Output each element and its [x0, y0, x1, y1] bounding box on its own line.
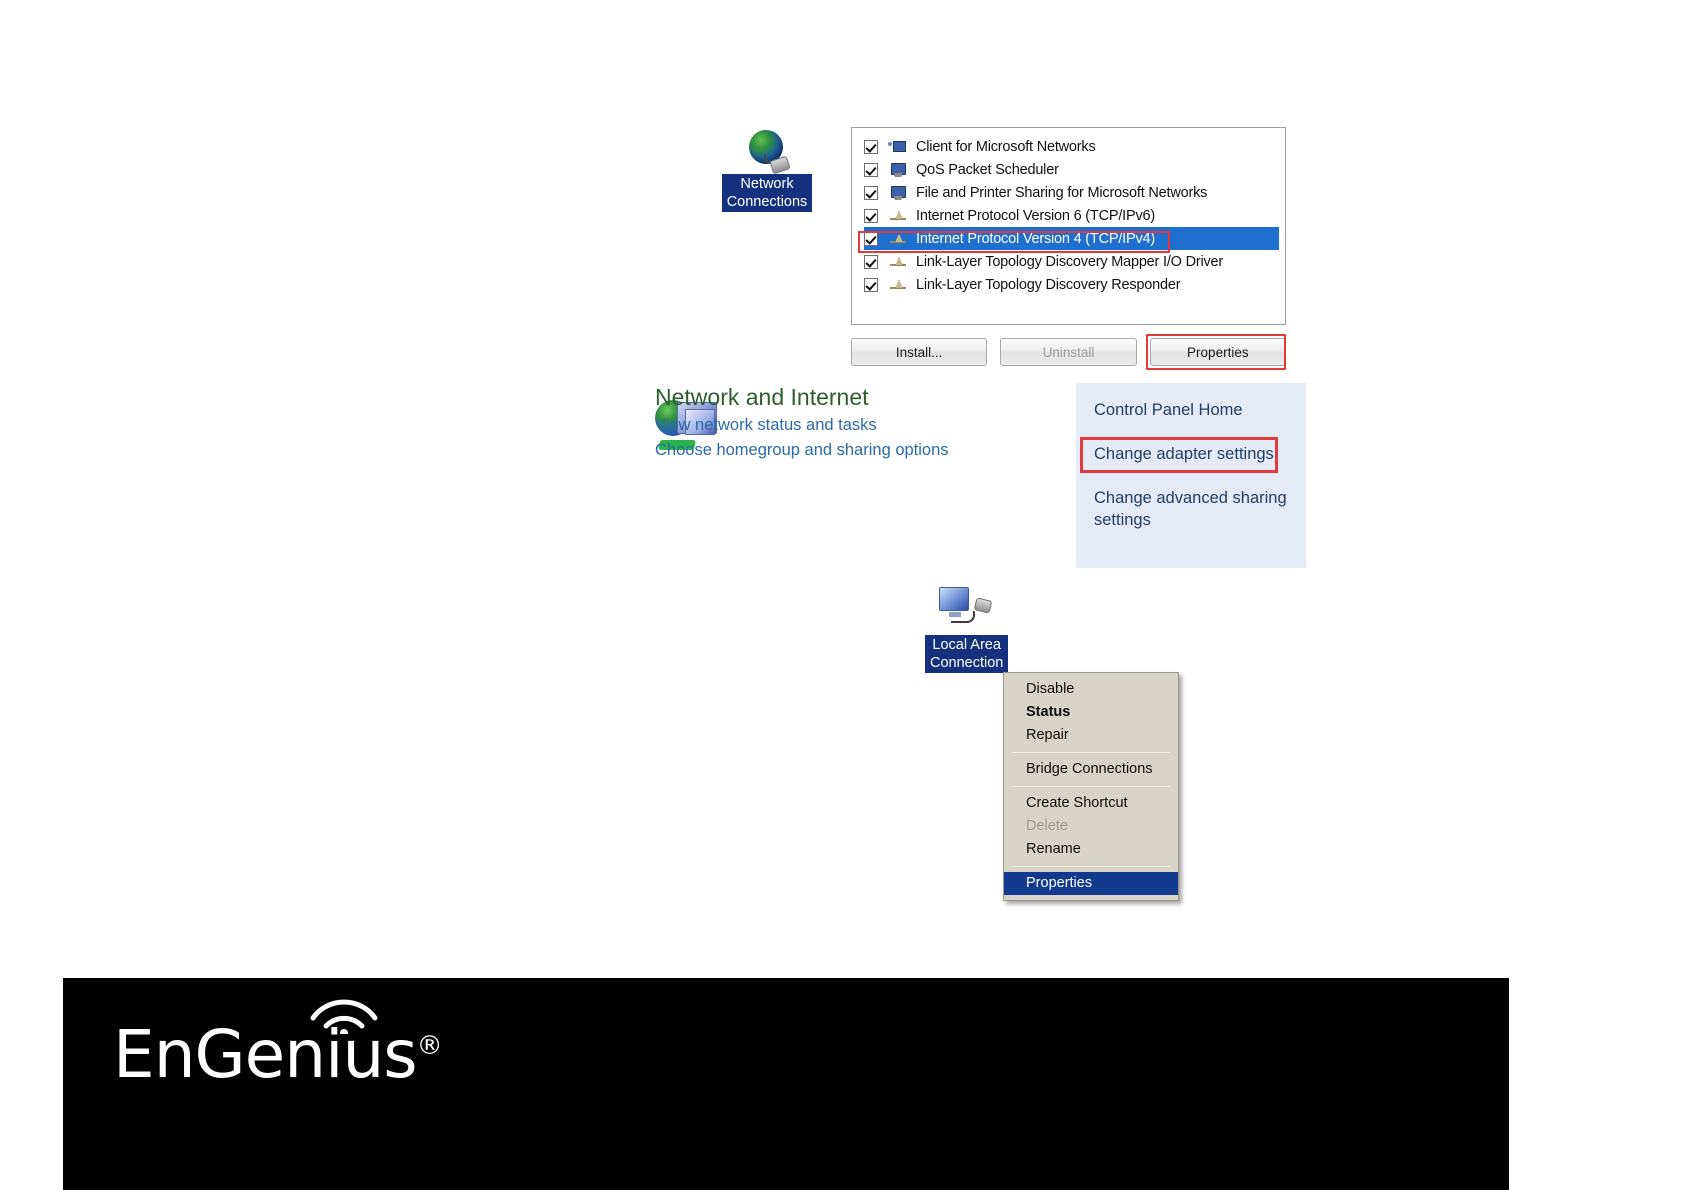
sidebar-item-control-panel-home[interactable]: Control Panel Home [1094, 399, 1288, 421]
menu-item-bridge-connections[interactable]: Bridge Connections [1004, 758, 1178, 781]
menu-item-status[interactable]: Status [1004, 701, 1178, 724]
menu-item-repair[interactable]: Repair [1004, 724, 1178, 747]
checkbox-icon[interactable] [864, 255, 878, 269]
menu-item-create-shortcut[interactable]: Create Shortcut [1004, 792, 1178, 815]
page-title[interactable]: Network and Internet [655, 384, 1065, 411]
install-button[interactable]: Install... [851, 338, 987, 366]
list-item[interactable]: Internet Protocol Version 6 (TCP/IPv6) [864, 204, 1279, 227]
globe-network-icon [745, 130, 789, 174]
network-connections-desktop-icon[interactable]: Network Connections [714, 130, 820, 212]
checkbox-icon[interactable] [864, 163, 878, 177]
icon-label-line1: Network [727, 175, 808, 193]
checkbox-icon[interactable] [864, 186, 878, 200]
checkbox-icon[interactable] [864, 209, 878, 223]
network-and-internet-block: Network and Internet View network status… [655, 384, 1065, 463]
menu-item-rename[interactable]: Rename [1004, 838, 1178, 861]
uninstall-button: Uninstall [1000, 338, 1136, 366]
sidebar-item-change-adapter-settings[interactable]: Change adapter settings [1094, 443, 1288, 465]
list-item[interactable]: File and Printer Sharing for Microsoft N… [864, 181, 1279, 204]
checkbox-icon[interactable] [864, 232, 878, 246]
icon-label-line2: Connection [930, 654, 1003, 672]
protocol-icon [888, 277, 908, 293]
sidebar-item-change-advanced-sharing-settings[interactable]: Change advanced sharing settings [1094, 487, 1288, 531]
logo-brand-text: EnGenius [113, 1016, 417, 1093]
menu-separator [1012, 786, 1170, 787]
local-area-connection-icon-label: Local Area Connection [925, 635, 1008, 673]
list-item[interactable]: QoS Packet Scheduler [864, 158, 1279, 181]
menu-bottom-padding [1004, 895, 1178, 900]
protocol-buttons-row: Install... Uninstall Properties [851, 338, 1286, 366]
monitor-icon [888, 185, 908, 201]
protocol-list[interactable]: Client for Microsoft Networks QoS Packet… [851, 127, 1286, 325]
list-item-selected[interactable]: Internet Protocol Version 4 (TCP/IPv4) [864, 227, 1279, 250]
list-item[interactable]: Link-Layer Topology Discovery Responder [864, 273, 1279, 296]
menu-item-disable[interactable]: Disable [1004, 678, 1178, 701]
context-menu: Disable Status Repair Bridge Connections… [1003, 672, 1179, 901]
monitor-icon [888, 162, 908, 178]
list-item-label: Link-Layer Topology Discovery Mapper I/O… [916, 254, 1223, 270]
list-item[interactable]: Link-Layer Topology Discovery Mapper I/O… [864, 250, 1279, 273]
protocol-icon [888, 254, 908, 270]
checkbox-icon[interactable] [864, 140, 878, 154]
link-view-network-status[interactable]: View network status and tasks [655, 413, 1065, 438]
lan-wire-shape [951, 611, 975, 623]
protocol-panel: Client for Microsoft Networks QoS Packet… [851, 127, 1286, 325]
properties-button[interactable]: Properties [1150, 338, 1286, 366]
menu-separator [1012, 866, 1170, 867]
menu-separator [1012, 752, 1170, 753]
menu-item-delete: Delete [1004, 815, 1178, 838]
client-icon [888, 139, 908, 155]
checkbox-icon[interactable] [864, 278, 878, 292]
local-area-connection-icon [933, 585, 993, 635]
list-item-label: File and Printer Sharing for Microsoft N… [916, 185, 1207, 201]
network-connections-icon-label: Network Connections [722, 174, 813, 212]
list-item-label: Client for Microsoft Networks [916, 139, 1096, 155]
protocol-icon [888, 231, 908, 247]
protocol-icon [888, 208, 908, 224]
lan-monitor-shape [939, 587, 969, 611]
logo-wordmark: EnGenius® [113, 1022, 443, 1088]
list-item-label: QoS Packet Scheduler [916, 162, 1059, 178]
control-panel-sidebar: Control Panel Home Change adapter settin… [1076, 383, 1306, 568]
list-item-label: Internet Protocol Version 6 (TCP/IPv6) [916, 208, 1155, 224]
list-item[interactable]: Client for Microsoft Networks [864, 135, 1279, 158]
icon-label-line2: Connections [727, 193, 808, 211]
list-item-label: Internet Protocol Version 4 (TCP/IPv4) [916, 231, 1155, 247]
menu-item-properties[interactable]: Properties [1004, 872, 1178, 895]
icon-label-line1: Local Area [930, 636, 1003, 654]
lan-plug-shape [974, 597, 993, 613]
list-item-label: Link-Layer Topology Discovery Responder [916, 277, 1180, 293]
link-choose-homegroup[interactable]: Choose homegroup and sharing options [655, 438, 1065, 463]
logo-registered-mark: ® [417, 1031, 443, 1061]
engenius-logo: EnGenius® [113, 1022, 443, 1088]
local-area-connection-desktop-icon[interactable]: Local Area Connection [925, 585, 1001, 673]
